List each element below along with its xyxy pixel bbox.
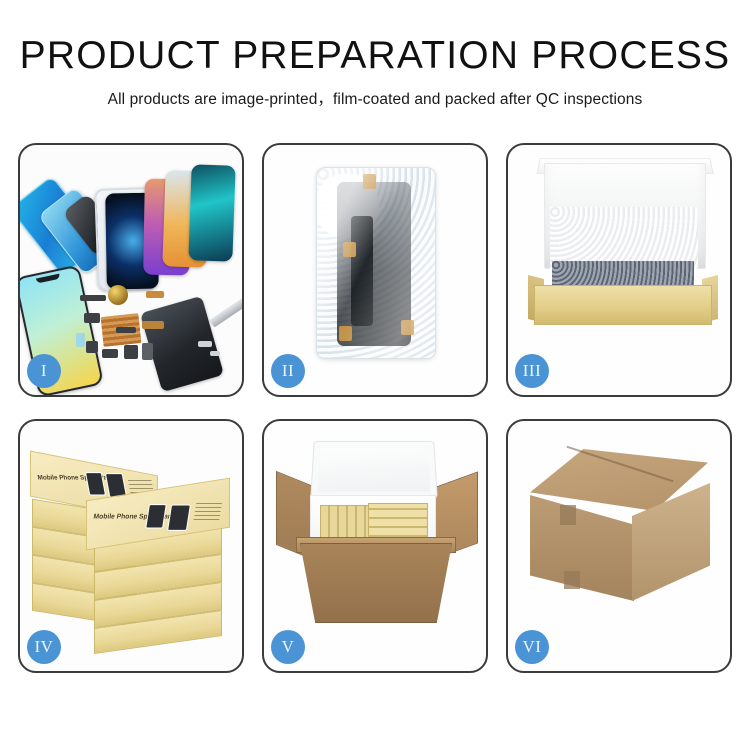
antenna-flex-icon <box>116 327 136 333</box>
kraft-box-front-icon <box>534 285 712 325</box>
process-step-panel-5[interactable]: V <box>262 419 488 673</box>
taptic-engine-icon <box>102 349 118 358</box>
carton-tape-lower-icon <box>564 571 580 589</box>
box-stack-icon: Mobile Phone Spare Parts Mobile Phone Sp… <box>28 443 234 633</box>
box-spec-text-2 <box>194 500 223 520</box>
wrapped-lcd-icon <box>337 182 411 346</box>
bubble-wrap-bag-icon <box>316 167 436 359</box>
page-subtitle: All products are image-printed，film-coat… <box>0 87 750 109</box>
speaker-icon <box>86 341 98 353</box>
process-step-panel-6[interactable]: VI <box>506 419 732 673</box>
step-badge-1: I <box>27 354 61 388</box>
camera-module-icon <box>84 313 100 323</box>
small-part-icon <box>80 295 106 301</box>
carton-tape-upper-icon <box>560 505 576 525</box>
step-badge-2: II <box>271 354 305 388</box>
tweezers-icon <box>209 295 242 327</box>
foam-box-lid-icon <box>310 441 438 499</box>
phone-notch-icon <box>36 274 60 284</box>
phone-screen-teal-icon <box>188 164 235 261</box>
process-step-grid: I II III <box>18 143 732 673</box>
carton-left-face-icon <box>530 495 634 601</box>
process-step-panel-3[interactable]: III <box>506 143 732 397</box>
step-badge-5: V <box>271 630 305 664</box>
carton-body-icon <box>300 543 452 623</box>
foam-sheet-icon <box>550 207 698 269</box>
box-lcd-thumbnail-2a <box>145 504 167 528</box>
vibration-motor-icon <box>108 285 128 305</box>
sim-tray-icon <box>142 343 153 360</box>
box-label-1: Mobile Phone Spare Parts <box>37 475 116 482</box>
button-part-icon <box>124 345 138 359</box>
process-step-panel-2[interactable]: II <box>262 143 488 397</box>
process-step-panel-1[interactable]: I <box>18 143 244 397</box>
tape-tab-bottom-right-icon <box>401 320 414 335</box>
step-badge-3: III <box>515 354 549 388</box>
screw-driver-bit-icon <box>198 341 212 347</box>
page-header: PRODUCT PREPARATION PROCESS All products… <box>0 0 750 109</box>
screen-fragment-icon <box>76 333 85 347</box>
flex-cable-icon <box>146 291 164 298</box>
page-title: PRODUCT PREPARATION PROCESS <box>0 36 750 77</box>
tape-tab-top-icon <box>363 174 376 189</box>
box-lcd-thumbnail-2b <box>167 505 191 531</box>
process-step-panel-4[interactable]: Mobile Phone Spare Parts Mobile Phone Sp… <box>18 419 244 673</box>
step-badge-6: VI <box>515 630 549 664</box>
tape-tab-mid-icon <box>343 242 356 257</box>
step-badge-4: IV <box>27 630 61 664</box>
screw-icon <box>210 351 220 356</box>
charging-port-flex-icon <box>142 321 164 329</box>
tape-tab-bottom-left-icon <box>339 326 352 341</box>
wrapped-flex-cable-icon <box>351 216 373 326</box>
